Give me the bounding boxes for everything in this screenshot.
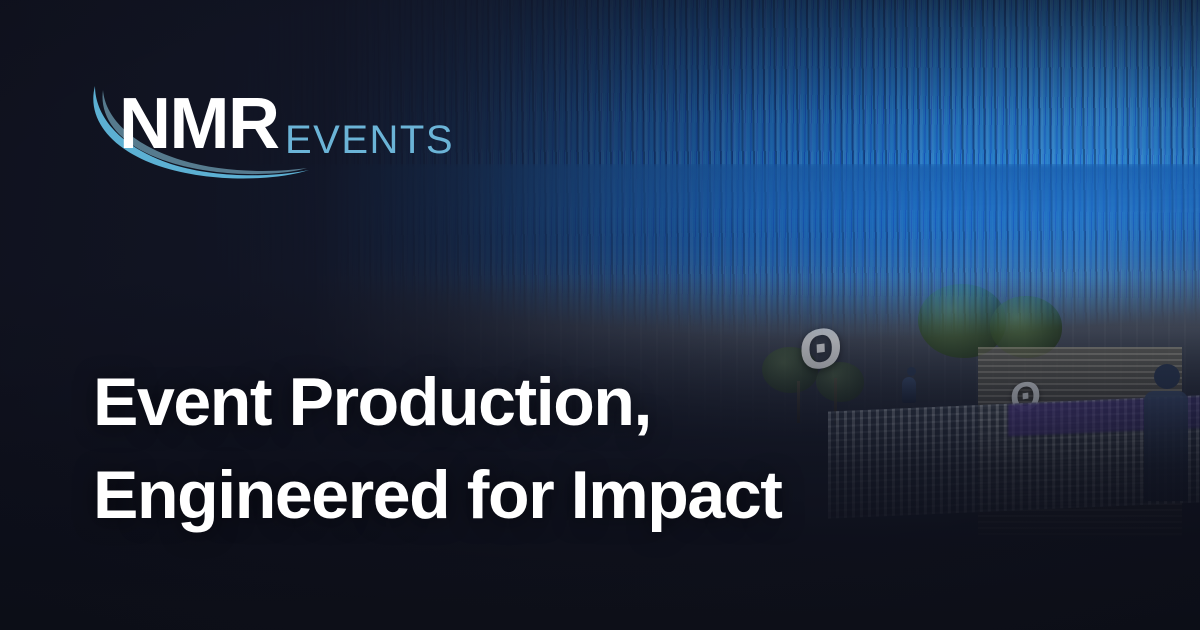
brand-wordmark: NMR <box>119 88 278 160</box>
hero-banner: ʘ ʘ NMR EVENTS <box>0 0 1200 630</box>
brand-logo[interactable]: NMR EVENTS <box>93 84 453 180</box>
headline-line-1: Event Production, <box>93 356 973 449</box>
page-title: Event Production, Engineered for Impact <box>93 356 973 542</box>
brand-suffix: EVENTS <box>285 120 454 160</box>
headline-line-2: Engineered for Impact <box>93 449 973 542</box>
hero-content: NMR EVENTS Event Production, Engineered … <box>0 0 1200 630</box>
